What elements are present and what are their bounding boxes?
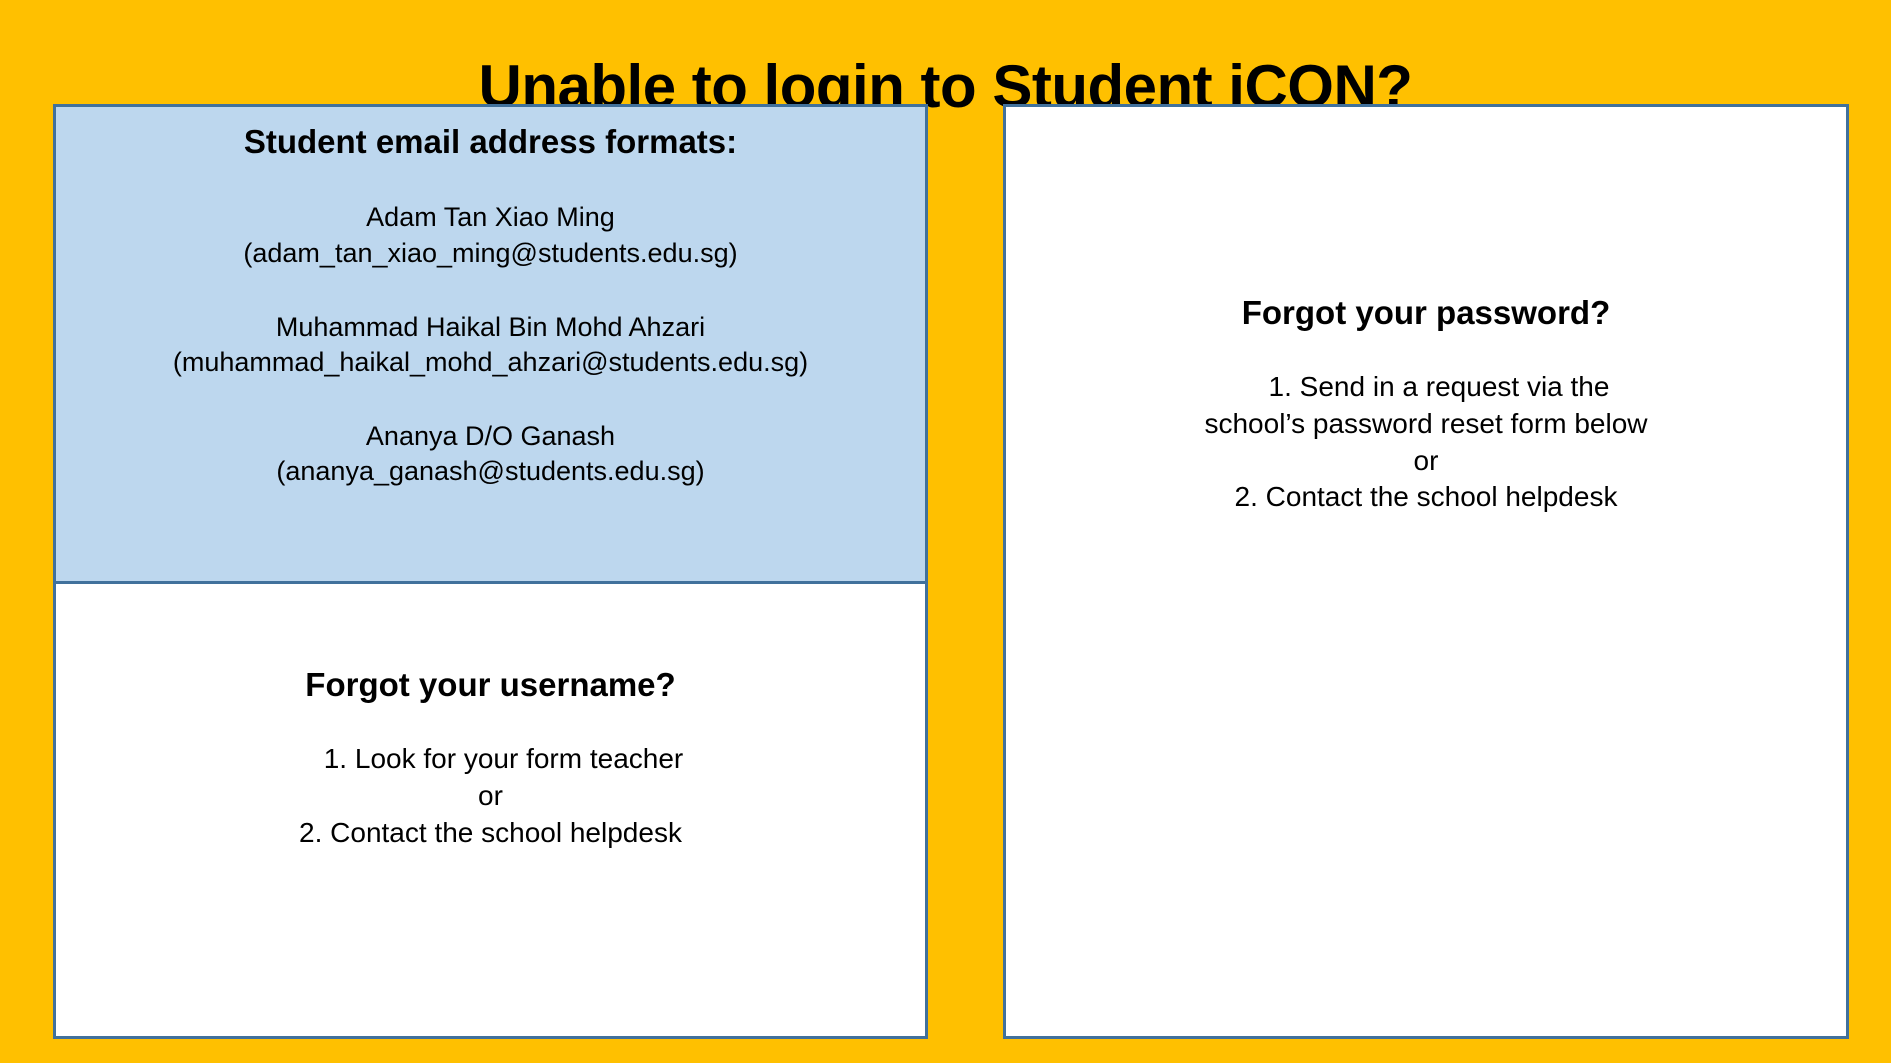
forgot-password-steps: 1. Send in a request via the school’s pa…: [1006, 333, 1846, 517]
email-format-entry: Muhammad Haikal Bin Mohd Ahzari (muhamma…: [56, 310, 925, 381]
forgot-password-step-2: 2. Contact the school helpdesk: [1006, 479, 1846, 516]
student-name: Muhammad Haikal Bin Mohd Ahzari: [56, 310, 925, 346]
student-email-address: (muhammad_haikal_mohd_ahzari@students.ed…: [56, 345, 925, 381]
student-name: Adam Tan Xiao Ming: [56, 200, 925, 236]
right-panel: Forgot your password? 1. Send in a reque…: [1003, 104, 1849, 1039]
forgot-username-heading: Forgot your username?: [56, 665, 925, 705]
student-name: Ananya D/O Ganash: [56, 419, 925, 455]
email-format-entry: Ananya D/O Ganash (ananya_ganash@student…: [56, 419, 925, 490]
student-email-address: (adam_tan_xiao_ming@students.edu.sg): [56, 236, 925, 272]
student-email-address: (ananya_ganash@students.edu.sg): [56, 454, 925, 490]
email-formats-block: Student email address formats: Adam Tan …: [56, 107, 925, 584]
forgot-password-heading: Forgot your password?: [1006, 293, 1846, 333]
forgot-username-step-1: 1. Look for your form teacher: [56, 741, 925, 778]
forgot-password-section: Forgot your password? 1. Send in a reque…: [1006, 293, 1846, 516]
forgot-username-steps: 1. Look for your form teacher or 2. Cont…: [56, 705, 925, 852]
forgot-username-conjunction: or: [56, 778, 925, 815]
email-format-entry: Adam Tan Xiao Ming (adam_tan_xiao_ming@s…: [56, 200, 925, 271]
forgot-password-step-1-line-2: school’s password reset form below: [1006, 406, 1846, 443]
forgot-username-step-2: 2. Contact the school helpdesk: [56, 815, 925, 852]
left-panel: Student email address formats: Adam Tan …: [53, 104, 928, 1039]
forgot-username-section: Forgot your username? 1. Look for your f…: [56, 665, 925, 851]
slide-canvas: Unable to login to Student iCON? Student…: [0, 0, 1891, 1063]
forgot-password-conjunction: or: [1006, 443, 1846, 480]
email-formats-heading: Student email address formats:: [56, 107, 925, 162]
forgot-password-step-1-line-1: 1. Send in a request via the: [1006, 369, 1846, 406]
